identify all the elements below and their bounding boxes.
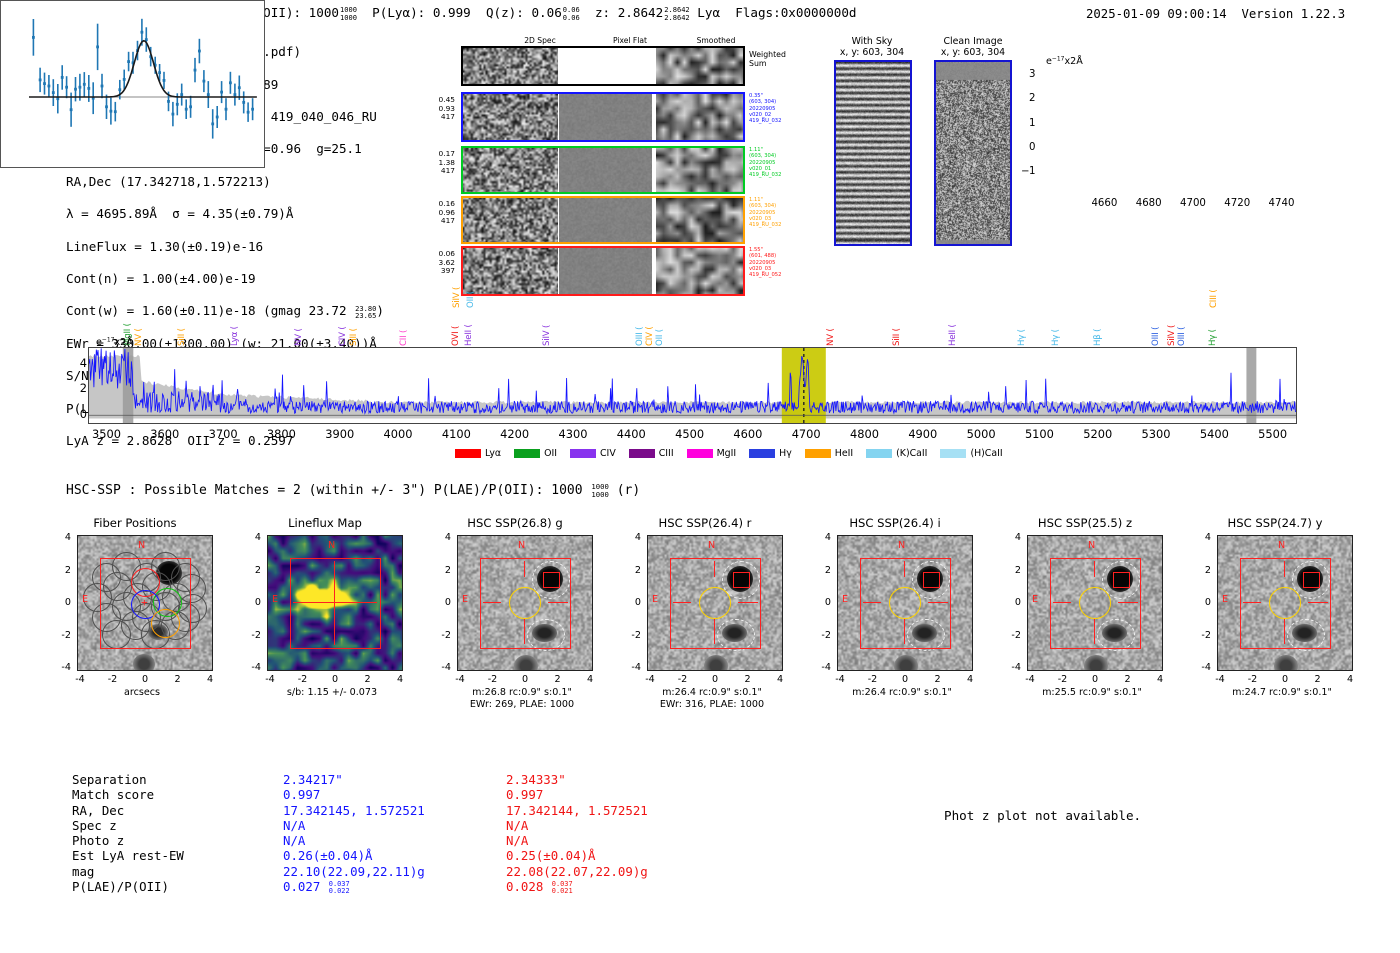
spectrum-line-label: SiII (: [177, 304, 187, 346]
legend-swatch: [866, 449, 892, 458]
panel-ytick: -2: [1195, 630, 1211, 641]
spectrum-line-label: NV (: [826, 304, 836, 346]
gauss-ytick: 2: [1029, 93, 1035, 104]
panel-xtick: 4: [392, 674, 408, 685]
panel-xtick: 0: [897, 674, 913, 685]
hsc-summary-line: HSC-SSP : Possible Matches = 2 (within +…: [66, 483, 640, 498]
gauss-xtick: 4720: [1222, 198, 1252, 209]
spectrum-xtick: 4400: [609, 427, 653, 441]
spectrum-line-label: SiIV (: [1167, 304, 1177, 346]
spectrum-xtick: 4200: [493, 427, 537, 441]
legend-entry: CIV: [570, 443, 629, 462]
crosshair-v: [714, 561, 715, 577]
panel-caption-1: m:24.7 rc:0.9" s:0.1": [1187, 687, 1377, 699]
gauss-xtick: 4740: [1267, 198, 1297, 209]
panel-ytick: 2: [245, 565, 261, 576]
panel-ytick: 0: [1005, 597, 1021, 608]
spectrum-xtick: 4000: [376, 427, 420, 441]
spec2d-col-title-smoothed: Smoothed: [675, 36, 757, 45]
crosshair-h2: [1118, 602, 1138, 603]
spec2d-cell-pixelflat: [559, 148, 652, 192]
panel-ytick: 2: [55, 565, 71, 576]
legend-swatch: [805, 449, 831, 458]
panel-ytick: -2: [815, 630, 831, 641]
panel-xtick: 0: [327, 674, 343, 685]
plae-value: 1000: [309, 5, 339, 20]
spectrum-xtick: 4900: [901, 427, 945, 441]
panel-caption-2: EWr: 316, PLAE: 1000: [617, 699, 807, 711]
legend-label: CIV: [600, 448, 616, 459]
compass-e: E: [462, 594, 468, 605]
match-table-value-col1: 2.34217": [283, 772, 343, 787]
gauss-fit-svg: [1, 1, 264, 167]
panel-image: NE: [647, 535, 783, 671]
legend-entry: (K)CaII: [866, 443, 940, 462]
panel-xtick: -4: [72, 674, 88, 685]
legend-swatch: [749, 449, 775, 458]
legend-label: (H)CaII: [970, 448, 1002, 459]
panel-title: HSC SSP(24.7) y: [1185, 516, 1365, 530]
yellow-target-circle: [699, 587, 731, 619]
spectrum-xtick: 4100: [434, 427, 478, 441]
panel-xtick: 4: [962, 674, 978, 685]
panel-ytick: 4: [435, 532, 451, 543]
spectrum-ytick: 4: [75, 356, 87, 370]
legend-swatch: [687, 449, 713, 458]
crosshair-v2: [1284, 618, 1285, 644]
spectrum-line-label: Hγ (: [1208, 304, 1218, 346]
match-table-value-col1: 17.342145, 1.572521: [283, 803, 425, 818]
spectrum-line-label: NV (: [134, 304, 144, 346]
spec2d-cell-pixelflat: [559, 94, 652, 140]
spectrum-line-label: HeII (: [464, 304, 474, 346]
match-table-value-col1: N/A: [283, 833, 305, 848]
spectrum-line-label: Lyα (: [230, 304, 240, 346]
spectrum-xtick: 3900: [318, 427, 362, 441]
legend-entry: MgII: [687, 443, 750, 462]
match-table-value-col2: 0.028 0.0370.021: [506, 879, 573, 895]
spectrum-xtick: 5300: [1134, 427, 1178, 441]
panel-caption-1: s/b: 1.15 +/- 0.073: [237, 687, 427, 699]
panel-title: Fiber Positions: [45, 516, 225, 530]
source-blob-bottom: [514, 655, 538, 671]
compass-e: E: [842, 594, 848, 605]
compass-e: E: [652, 594, 658, 605]
crosshair-v2: [904, 618, 905, 644]
spectrum-line-label: SiIV (: [452, 272, 462, 308]
panel-xtick: 4: [582, 674, 598, 685]
panel-xtick: 4: [772, 674, 788, 685]
spectrum-line-label: CIV (: [338, 304, 348, 346]
panel-xtick: 4: [1342, 674, 1358, 685]
header-timestamp-version: 2025-01-09 09:00:14 Version 1.22.3: [1086, 7, 1345, 21]
spec2d-cell-smoothed: [656, 248, 743, 294]
panel-xtick: 4: [1152, 674, 1168, 685]
info-line-7: Cont(n) = 1.00(±4.00)e-19: [66, 271, 384, 287]
panel-title: HSC SSP(26.8) g: [425, 516, 605, 530]
panel-ytick: 2: [625, 565, 641, 576]
info-line-5: λ = 4695.89Å σ = 4.35(±0.79)Å: [66, 206, 384, 222]
match-table-value-col2: 0.25(±0.04)Å: [506, 848, 596, 863]
fiber-highlight-orange: [151, 609, 180, 638]
panel-ytick: 2: [815, 565, 831, 576]
match-table-label: Photo z: [72, 833, 124, 848]
panel-xtick: -2: [865, 674, 881, 685]
cutout-panel: Fiber Positions+NE420-2-4-4-2024arcsecs: [55, 516, 235, 736]
cutout-panel: Lineflux MapNE420-2-4-4-2024s/b: 1.15 +/…: [245, 516, 425, 736]
spectrum-xtick: 3600: [143, 427, 187, 441]
panel-xtick: -4: [1022, 674, 1038, 685]
panel-xtick: 2: [360, 674, 376, 685]
panel-ytick: -4: [245, 662, 261, 673]
compass-e: E: [272, 594, 278, 605]
match-table-label: P(LAE)/P(OII): [72, 879, 169, 894]
match-table-label: mag: [72, 864, 94, 879]
source-blob-bottom: [1274, 655, 1298, 671]
panel-caption-1: m:26.4 rc:0.9" s:0.1": [617, 687, 807, 699]
panel-image: NE: [1027, 535, 1163, 671]
panel-ytick: -2: [1005, 630, 1021, 641]
target-cross: +: [141, 599, 148, 607]
cutout-panel: HSC SSP(26.4) iNE420-2-4-4-2024m:26.4 rc…: [815, 516, 995, 736]
panel-caption-1: m:26.4 rc:0.9" s:0.1": [807, 687, 997, 699]
panel-xtick: 4: [202, 674, 218, 685]
spec2d-row: [461, 196, 745, 244]
crosshair-h: [863, 602, 881, 603]
panel-ytick: 2: [1005, 565, 1021, 576]
panel-xtick: 2: [1310, 674, 1326, 685]
spec2d-row-right-meta: 1.55"(601, 488)20220905v020_03419_RU_052: [749, 247, 795, 278]
spectrum-ytick: 2: [75, 381, 87, 395]
z-line-name: Lyα: [697, 5, 720, 20]
spec2d-col-title-2dspec: 2D Spec: [495, 36, 585, 45]
crosshair-h: [1243, 602, 1261, 603]
match-table-value-col2: 22.08(22.07,22.09)g: [506, 864, 648, 879]
crosshair-h2: [1308, 602, 1328, 603]
match-table-value-col1: 0.26(±0.04)Å: [283, 848, 373, 863]
photz-note: Phot z plot not available.: [944, 808, 1141, 823]
gauss-xtick: 4660: [1089, 198, 1119, 209]
panel-xtick: -2: [675, 674, 691, 685]
panel-title: HSC SSP(26.4) i: [805, 516, 985, 530]
z-label: z:: [595, 5, 610, 20]
spec2d-row: [461, 92, 745, 142]
legend-swatch: [940, 449, 966, 458]
spectrum-line-label: OII (: [655, 304, 665, 346]
panel-image: NE: [1217, 535, 1353, 671]
gauss-ytick: 1: [1029, 118, 1035, 129]
compass-n: N: [898, 540, 905, 551]
compass-e: E: [82, 594, 88, 605]
crosshair-v2: [714, 618, 715, 644]
source-blob-bottom: [1084, 655, 1108, 671]
spectrum-line-label: CIV (: [645, 304, 655, 346]
hsc-plae-range: 10001000: [591, 483, 609, 498]
crosshair-h: [1053, 602, 1071, 603]
yellow-target-circle: [509, 587, 541, 619]
panel-xtick: 2: [170, 674, 186, 685]
spectrum-xtick: 3700: [201, 427, 245, 441]
panel-xtick: 0: [1087, 674, 1103, 685]
panel-xtick: 2: [930, 674, 946, 685]
spec2d-cell-2dspec: [463, 198, 558, 242]
match-table-value-col2: N/A: [506, 833, 528, 848]
panel-ytick: 2: [1195, 565, 1211, 576]
legend-label: OII: [544, 448, 557, 459]
spectrum-line-label: OII (: [466, 272, 476, 308]
spec2d-ws-2dspec: [463, 48, 558, 84]
crosshair-h2: [928, 602, 948, 603]
match-table-value-col1: 22.10(22.09,22.11)g: [283, 864, 425, 879]
spec2d-row-left-stats: 0.063.62397: [425, 250, 455, 276]
yellow-target-circle: [1079, 587, 1111, 619]
legend-entry: (H)CaII: [940, 443, 1015, 462]
crosshair-v: [1094, 561, 1095, 577]
spectrum-line-label: OIII (: [1177, 304, 1187, 346]
crosshair-h: [293, 602, 377, 603]
spectrum-xtick: 5400: [1192, 427, 1236, 441]
spectrum-line-label: OIII (: [635, 304, 645, 346]
emission-line-fit-plot: e−17x2Å 466046804700472047401−0123: [0, 0, 265, 168]
gauss-fit-axes: [0, 0, 265, 168]
panel-xtick: 2: [740, 674, 756, 685]
spec2d-row-right-meta: 1.11"(603, 304)20220905v020_01419_RU_032: [749, 147, 795, 178]
match-table-value-col2: 2.34333": [506, 772, 566, 787]
compass-e: E: [1222, 594, 1228, 605]
compass-n: N: [518, 540, 525, 551]
spectrum-svg: [89, 348, 1296, 423]
z-value: 2.8642: [618, 5, 664, 20]
spectrum-xtick: 4500: [668, 427, 712, 441]
compass-e: E: [1032, 594, 1038, 605]
spectrum-legend: LyαOIICIVCIIIMgIIHγHeII(K)CaII(H)CaII: [455, 443, 1016, 462]
spec2d-ws-smoothed: [656, 48, 743, 84]
clean-image-title: Clean Image x, y: 603, 304: [918, 36, 1028, 59]
qz-value: 0.06: [531, 5, 561, 20]
col2-plae-range: 0.0370.021: [552, 881, 573, 895]
panel-ytick: -4: [1005, 662, 1021, 673]
with-sky-title: With Sky x, y: 603, 304: [824, 36, 920, 59]
spec2d-row-left-stats: 0.171.38417: [425, 150, 455, 176]
spec2d-row-left-stats: 0.450.93417: [425, 96, 455, 122]
panel-ytick: 4: [55, 532, 71, 543]
panel-caption-1: m:25.5 rc:0.9" s:0.1": [997, 687, 1187, 699]
panel-xtick: 0: [137, 674, 153, 685]
spectrum-line-label: CIII (: [1209, 272, 1219, 308]
panel-xtick: -4: [642, 674, 658, 685]
panel-ytick: -4: [435, 662, 451, 673]
panel-ytick: 4: [1195, 532, 1211, 543]
panel-ytick: -4: [1195, 662, 1211, 673]
info-line-6: LineFlux = 1.30(±0.19)e-16: [66, 239, 384, 255]
panel-ytick: -4: [625, 662, 641, 673]
legend-swatch: [455, 449, 481, 458]
legend-entry: OII: [514, 443, 570, 462]
compass-n: N: [328, 540, 335, 551]
panel-title: Lineflux Map: [235, 516, 415, 530]
spectrum-line-label: Hγ (: [1051, 304, 1061, 346]
spectrum-line-label: Hβ (: [1093, 304, 1103, 346]
compass-n: N: [708, 540, 715, 551]
panel-ytick: -4: [55, 662, 71, 673]
panel-ytick: 0: [435, 597, 451, 608]
compass-n: N: [1088, 540, 1095, 551]
spec2d-cell-smoothed: [656, 198, 743, 242]
panel-xtick: -2: [1055, 674, 1071, 685]
spectrum-line-label: HeII (: [948, 304, 958, 346]
spectrum-line-label: SiIV (: [542, 304, 552, 346]
spectrum-line-label: NV (: [294, 304, 304, 346]
timestamp: 2025-01-09 09:00:14: [1086, 7, 1227, 21]
panel-ytick: 2: [435, 565, 451, 576]
cutout-panel: HSC SSP(26.4) rNE420-2-4-4-2024m:26.4 rc…: [625, 516, 805, 736]
info-cont-w: Cont(w) = 1.60(±0.11)e-18 (gmag 23.72 23…: [66, 303, 384, 319]
qz-range: 0.060.06: [563, 6, 580, 20]
with-sky-image: [834, 60, 912, 246]
legend-entry: Lyα: [455, 443, 514, 462]
match-table-value-col1: 0.027 0.0370.022: [283, 879, 350, 895]
spectrum-line-label: SiII (: [892, 304, 902, 346]
legend-entry: HeII: [805, 443, 866, 462]
legend-entry: Hγ: [749, 443, 805, 462]
panel-image: NE: [457, 535, 593, 671]
panel-xtick: 2: [1120, 674, 1136, 685]
crosshair-h: [483, 602, 501, 603]
yellow-target-circle: [1269, 587, 1301, 619]
spectrum-xtick: 3800: [259, 427, 303, 441]
panel-title: HSC SSP(25.5) z: [995, 516, 1175, 530]
panel-image: NE: [837, 535, 973, 671]
spec2d-cell-2dspec: [463, 148, 558, 192]
panel-image: +NE: [77, 535, 213, 671]
source-blob-bottom: [704, 655, 728, 671]
panel-caption-2: EWr: 269, PLAE: 1000: [427, 699, 617, 711]
legend-entry: CIII: [629, 443, 687, 462]
cutout-panel: HSC SSP(25.5) zNE420-2-4-4-2024m:25.5 rc…: [1005, 516, 1185, 736]
spec2d-cell-smoothed: [656, 148, 743, 192]
match-table-value-col1: 0.997: [283, 787, 320, 802]
panel-xtick: -4: [262, 674, 278, 685]
gauss-xtick: 4680: [1134, 198, 1164, 209]
crosshair-v: [904, 561, 905, 577]
gauss-ytick-minus: −: [1021, 166, 1030, 177]
plae-range: 10001000: [340, 6, 357, 20]
spec2d-row-right-meta: 0.35"(603, 304)20220905v020_02419_RU_032: [749, 93, 795, 124]
spectrum-line-label: CII (: [399, 304, 409, 346]
panel-xtick: -2: [485, 674, 501, 685]
legend-label: Hγ: [779, 448, 792, 459]
plya-value: 0.999: [433, 5, 471, 20]
panel-ytick: -2: [245, 630, 261, 641]
panel-ytick: 0: [245, 597, 261, 608]
crosshair-v: [524, 561, 525, 577]
panel-ytick: -2: [625, 630, 641, 641]
spec2d-cell-2dspec: [463, 248, 558, 294]
legend-swatch: [570, 449, 596, 458]
legend-label: (K)CaII: [896, 448, 927, 459]
match-table-value-col2: 0.997: [506, 787, 543, 802]
spec2d-row-left-stats: 0.160.96417: [425, 200, 455, 226]
z-range: 2.86422.8642: [664, 6, 689, 20]
spectrum-line-label: OVI (: [451, 304, 461, 346]
crosshair-h2: [738, 602, 758, 603]
crosshair-v2: [1094, 618, 1095, 644]
flags-value: Flags:0x0000000d: [735, 5, 856, 20]
legend-label: CIII: [659, 448, 674, 459]
legend-swatch: [514, 449, 540, 458]
spec2d-montage: 2D Spec Pixel Flat Smoothed WeightedSum …: [461, 36, 761, 266]
gauss-ytick: 1: [1029, 166, 1035, 177]
spectrum-xtick: 4700: [784, 427, 828, 441]
spectrum-xtick: 5500: [1251, 427, 1295, 441]
legend-label: HeII: [835, 448, 853, 459]
match-table-value-col2: 17.342144, 1.572521: [506, 803, 648, 818]
qz-label: Q(z):: [486, 5, 524, 20]
red-aperture-box: [290, 558, 381, 649]
source-blob-bottom: [133, 654, 155, 671]
panel-xtick: 0: [707, 674, 723, 685]
crosshair-h: [673, 602, 691, 603]
panel-ytick: 4: [815, 532, 831, 543]
yellow-target-circle: [889, 587, 921, 619]
legend-swatch: [629, 449, 655, 458]
spectrum-axes: [88, 347, 1297, 424]
compass-n: N: [138, 540, 145, 551]
crosshair-v: [1284, 561, 1285, 577]
spectrum-unit-label: e−17x2Å: [96, 337, 133, 348]
spectrum-xtick: 5000: [959, 427, 1003, 441]
panel-ytick: -2: [55, 630, 71, 641]
spectrum-xtick: 5200: [1076, 427, 1120, 441]
panel-xtick: -2: [105, 674, 121, 685]
spectrum-ytick: 0: [75, 407, 87, 421]
panel-ytick: 4: [1005, 532, 1021, 543]
spectrum-xtick: 4800: [843, 427, 887, 441]
match-table-label: Est LyA rest-EW: [72, 848, 184, 863]
legend-label: Lyα: [485, 448, 501, 459]
spectrum-xtick: 5100: [1017, 427, 1061, 441]
cutout-panel: HSC SSP(24.7) yNE420-2-4-4-2024m:24.7 rc…: [1195, 516, 1375, 736]
version-label: Version 1.22.3: [1241, 7, 1345, 21]
panel-xtick: -4: [1212, 674, 1228, 685]
panel-title: HSC SSP(26.4) r: [615, 516, 795, 530]
spectrum-line-label: SiII (: [349, 304, 359, 346]
panel-xtick: -4: [452, 674, 468, 685]
info-line-4: RA,Dec (17.342718,1.572213): [66, 174, 384, 190]
spec2d-row: [461, 246, 745, 296]
spec2d-col-title-pixelflat: Pixel Flat: [585, 36, 675, 45]
match-table-value-col1: N/A: [283, 818, 305, 833]
gauss-ytick: 0: [1029, 142, 1035, 153]
match-table-label: Match score: [72, 787, 154, 802]
spectrum-line-label: Hγ (: [1017, 304, 1027, 346]
panel-ytick: 4: [625, 532, 641, 543]
panel-ytick: -2: [435, 630, 451, 641]
crosshair-h2: [548, 602, 568, 603]
panel-ytick: 0: [55, 597, 71, 608]
spec2d-row: [461, 146, 745, 194]
panel-image: NE: [267, 535, 403, 671]
panel-xtick: 0: [1277, 674, 1293, 685]
panel-ytick: 0: [1195, 597, 1211, 608]
legend-label: MgII: [717, 448, 737, 459]
panel-xtick: 0: [517, 674, 533, 685]
crosshair-v2: [524, 618, 525, 644]
spectrum-xtick: 4600: [726, 427, 770, 441]
panel-xlabel: arcsecs: [47, 687, 237, 699]
spec2d-cell-pixelflat: [559, 198, 652, 242]
spectrum-line-label: OIII (: [1151, 304, 1161, 346]
